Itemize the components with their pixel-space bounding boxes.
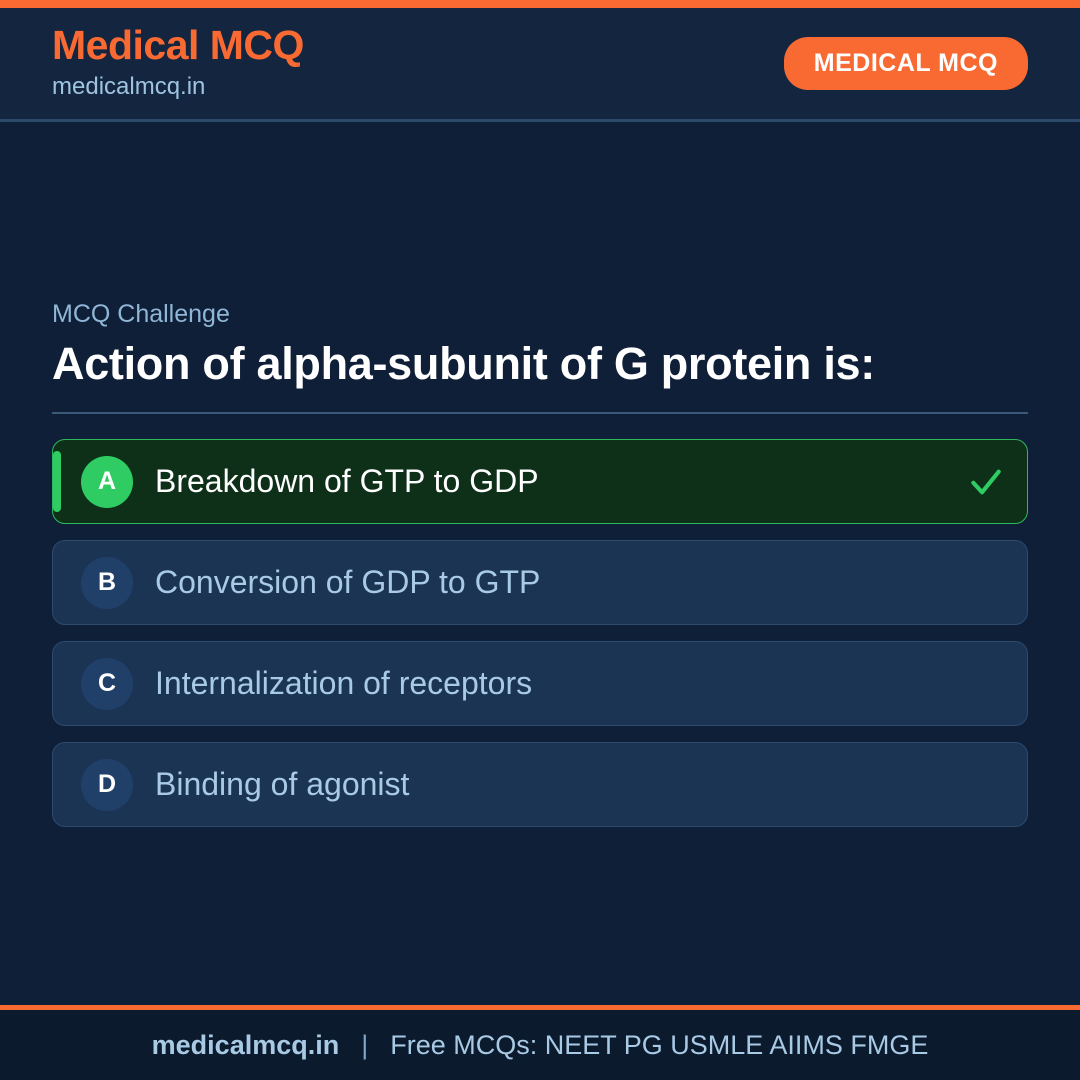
question-text: Action of alpha-subunit of G protein is: xyxy=(52,337,882,390)
option-c[interactable]: C Internalization of receptors xyxy=(52,641,1028,726)
footer-separator: | xyxy=(361,1030,368,1061)
mcq-card: Medical MCQ medicalmcq.in MEDICAL MCQ MC… xyxy=(0,0,1080,1080)
option-a-badge: A xyxy=(81,456,133,508)
brand-url: medicalmcq.in xyxy=(52,71,304,102)
option-d[interactable]: D Binding of agonist xyxy=(52,742,1028,827)
eyebrow-label: MCQ Challenge xyxy=(52,300,1028,329)
option-a-label: Breakdown of GTP to GDP xyxy=(155,462,955,500)
option-b-label: Conversion of GDP to GTP xyxy=(155,563,1005,601)
options-list: A Breakdown of GTP to GDP B Conversion o… xyxy=(52,439,1028,827)
footer-exams: Free MCQs: NEET PG USMLE AIIMS FMGE xyxy=(390,1030,928,1061)
option-c-badge: C xyxy=(81,658,133,710)
check-icon xyxy=(967,463,1005,501)
option-a[interactable]: A Breakdown of GTP to GDP xyxy=(52,439,1028,524)
option-c-label: Internalization of receptors xyxy=(155,664,1005,702)
option-b-badge: B xyxy=(81,557,133,609)
main-content: MCQ Challenge Action of alpha-subunit of… xyxy=(0,122,1080,1005)
header-badge: MEDICAL MCQ xyxy=(784,37,1028,90)
footer-site: medicalmcq.in xyxy=(152,1030,340,1061)
brand-title: Medical MCQ xyxy=(52,24,304,67)
question-divider xyxy=(52,412,1028,414)
page-header: Medical MCQ medicalmcq.in MEDICAL MCQ xyxy=(0,8,1080,122)
option-d-label: Binding of agonist xyxy=(155,765,1005,803)
option-b[interactable]: B Conversion of GDP to GTP xyxy=(52,540,1028,625)
page-footer: medicalmcq.in | Free MCQs: NEET PG USMLE… xyxy=(0,1005,1080,1080)
option-d-badge: D xyxy=(81,759,133,811)
top-accent-bar xyxy=(0,0,1080,8)
brand-block: Medical MCQ medicalmcq.in xyxy=(52,24,304,102)
